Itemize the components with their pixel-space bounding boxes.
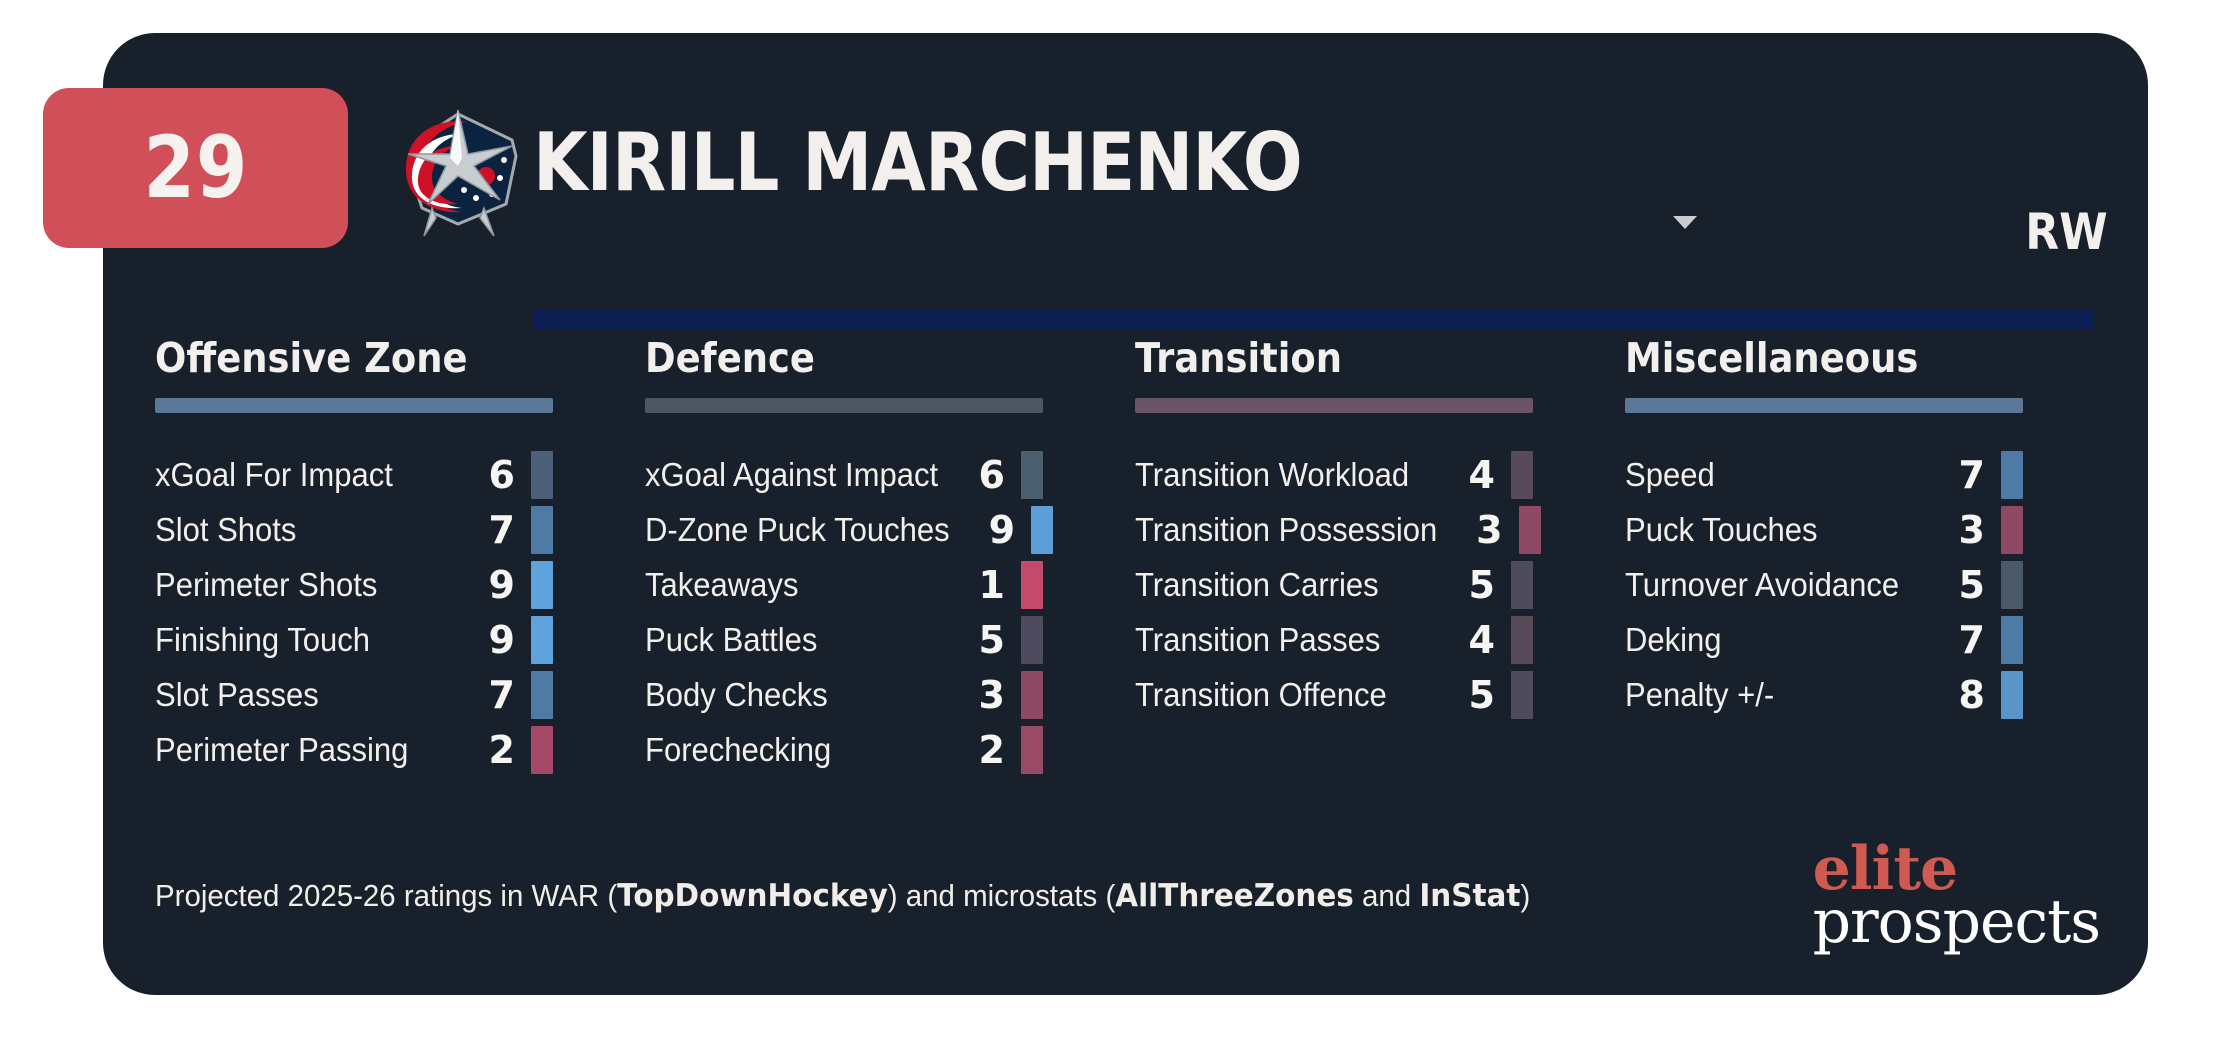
stat-label: Transition Possession xyxy=(1135,513,1437,546)
stat-bar xyxy=(1021,671,1043,719)
stat-label: xGoal Against Impact xyxy=(645,458,940,491)
jersey-number-badge: 29 xyxy=(43,88,348,248)
stat-rows: Transition Workload 4 Transition Possess… xyxy=(1135,447,1598,722)
stat-row: D-Zone Puck Touches 9 xyxy=(645,502,1043,557)
stat-label: Forechecking xyxy=(645,733,940,766)
stat-value: 8 xyxy=(1939,676,1985,714)
stat-row: xGoal For Impact 6 xyxy=(155,447,553,502)
stat-rows: Speed 7 Puck Touches 3 Turnover Avoidanc… xyxy=(1625,447,2088,722)
caption-text: ) and microstats ( xyxy=(888,878,1115,913)
stat-row: Transition Workload 4 xyxy=(1135,447,1533,502)
stat-label: Deking xyxy=(1625,623,1920,656)
stat-row: Transition Offence 5 xyxy=(1135,667,1533,722)
stat-bar xyxy=(1519,506,1541,554)
stat-label: Finishing Touch xyxy=(155,623,450,656)
stat-label: xGoal For Impact xyxy=(155,458,450,491)
stat-bar xyxy=(2001,506,2023,554)
stat-label: Perimeter Passing xyxy=(155,733,450,766)
stat-value: 9 xyxy=(469,621,515,659)
card-header: 29 xyxy=(103,33,2148,303)
stat-value: 1 xyxy=(959,566,1005,604)
stat-value: 3 xyxy=(959,676,1005,714)
stat-row: Perimeter Shots 9 xyxy=(155,557,553,612)
stat-value: 7 xyxy=(1939,456,1985,494)
stat-row: Speed 7 xyxy=(1625,447,2023,502)
column-title: Transition xyxy=(1135,338,1552,379)
stat-row: Turnover Avoidance 5 xyxy=(1625,557,2023,612)
stat-bar xyxy=(2001,451,2023,499)
stat-bar xyxy=(1511,561,1533,609)
stat-label: Transition Carries xyxy=(1135,568,1430,601)
stat-label: Perimeter Shots xyxy=(155,568,450,601)
stat-label: Slot Shots xyxy=(155,513,450,546)
stat-value: 9 xyxy=(969,511,1015,549)
stat-row: Transition Possession 3 xyxy=(1135,502,1533,557)
jersey-number: 29 xyxy=(143,125,248,211)
stat-value: 3 xyxy=(1939,511,1985,549)
stat-column-defence: Defence xGoal Against Impact 6 D-Zone Pu… xyxy=(618,338,1108,777)
stat-rows: xGoal For Impact 6 Slot Shots 7 Perimete… xyxy=(155,447,618,777)
stat-value: 2 xyxy=(469,731,515,769)
column-rule xyxy=(155,398,553,413)
stat-row: Slot Passes 7 xyxy=(155,667,553,722)
stat-rows: xGoal Against Impact 6 D-Zone Puck Touch… xyxy=(645,447,1108,777)
stat-row: Puck Battles 5 xyxy=(645,612,1043,667)
stat-bar xyxy=(2001,561,2023,609)
player-stat-card: 29 xyxy=(103,33,2148,995)
caption-text: and xyxy=(1354,878,1420,913)
stat-row: Finishing Touch 9 xyxy=(155,612,553,667)
stat-row: Transition Passes 4 xyxy=(1135,612,1533,667)
column-rule xyxy=(1135,398,1533,413)
stat-bar xyxy=(2001,671,2023,719)
elite-prospects-logo: elite prospects xyxy=(1813,843,2100,949)
stat-row: Takeaways 1 xyxy=(645,557,1043,612)
stat-bar xyxy=(531,451,553,499)
stat-value: 7 xyxy=(469,676,515,714)
column-rule xyxy=(1625,398,2023,413)
column-title: Defence xyxy=(645,338,1062,379)
stat-row: Deking 7 xyxy=(1625,612,2023,667)
stat-label: Transition Passes xyxy=(1135,623,1430,656)
stat-value: 6 xyxy=(959,456,1005,494)
stat-value: 5 xyxy=(1449,676,1495,714)
stat-label: Puck Touches xyxy=(1625,513,1920,546)
stat-row: Slot Shots 7 xyxy=(155,502,553,557)
stat-row: Penalty +/- 8 xyxy=(1625,667,2023,722)
player-name: KIRILL MARCHENKO xyxy=(533,119,1302,207)
stat-value: 5 xyxy=(1939,566,1985,604)
data-source-caption: Projected 2025-26 ratings in WAR (TopDow… xyxy=(155,878,1530,914)
stat-value: 5 xyxy=(959,621,1005,659)
stat-bar xyxy=(531,561,553,609)
column-rule xyxy=(645,398,1043,413)
stat-label: Transition Offence xyxy=(1135,678,1430,711)
stat-label: Slot Passes xyxy=(155,678,450,711)
source-instat: InStat xyxy=(1419,878,1520,914)
stat-label: Speed xyxy=(1625,458,1920,491)
stat-value: 5 xyxy=(1449,566,1495,604)
stat-label: D-Zone Puck Touches xyxy=(645,513,950,546)
source-topdownhockey: TopDownHockey xyxy=(617,878,888,914)
stat-bar xyxy=(1021,616,1043,664)
stat-row: xGoal Against Impact 6 xyxy=(645,447,1043,502)
logo-prospects-text: prospects xyxy=(1813,896,2100,949)
caption-text: ) xyxy=(1521,878,1531,913)
stat-value: 4 xyxy=(1449,456,1495,494)
stat-bar xyxy=(531,726,553,774)
stat-value: 6 xyxy=(469,456,515,494)
stat-bar xyxy=(2001,616,2023,664)
stat-label: Takeaways xyxy=(645,568,940,601)
team-accent-rule xyxy=(533,310,2093,330)
stat-value: 4 xyxy=(1449,621,1495,659)
column-title: Offensive Zone xyxy=(155,338,572,379)
stat-column-transition: Transition Transition Workload 4 Transit… xyxy=(1108,338,1598,777)
stat-value: 9 xyxy=(469,566,515,604)
stat-value: 3 xyxy=(1457,511,1503,549)
stat-column-miscellaneous: Miscellaneous Speed 7 Puck Touches 3 Tur… xyxy=(1598,338,2088,777)
column-title: Miscellaneous xyxy=(1625,338,2042,379)
caption-text: Projected 2025-26 ratings in WAR ( xyxy=(155,878,617,913)
stat-bar xyxy=(1511,451,1533,499)
stat-bar xyxy=(1031,506,1053,554)
stat-column-offensive-zone: Offensive Zone xGoal For Impact 6 Slot S… xyxy=(128,338,618,777)
stat-value: 7 xyxy=(1939,621,1985,659)
chevron-down-icon[interactable] xyxy=(1673,216,1697,229)
source-allthreezones: AllThreeZones xyxy=(1115,878,1354,914)
stat-row: Body Checks 3 xyxy=(645,667,1043,722)
stat-bar xyxy=(1021,726,1043,774)
player-card-stage: 29 xyxy=(0,0,2236,1050)
stat-bar xyxy=(531,671,553,719)
stat-label: Puck Battles xyxy=(645,623,940,656)
stat-value: 2 xyxy=(959,731,1005,769)
stat-row: Puck Touches 3 xyxy=(1625,502,2023,557)
stat-label: Penalty +/- xyxy=(1625,678,1920,711)
stat-bar xyxy=(531,616,553,664)
stat-value: 7 xyxy=(469,511,515,549)
stat-label: Body Checks xyxy=(645,678,940,711)
columbus-blue-jackets-logo xyxy=(388,96,528,241)
stat-label: Turnover Avoidance xyxy=(1625,568,1920,601)
stat-row: Perimeter Passing 2 xyxy=(155,722,553,777)
stat-bar xyxy=(1511,671,1533,719)
stat-label: Transition Workload xyxy=(1135,458,1430,491)
stat-row: Forechecking 2 xyxy=(645,722,1043,777)
stat-bar xyxy=(1021,451,1043,499)
stat-bar xyxy=(531,506,553,554)
stat-bar xyxy=(1511,616,1533,664)
player-position: RW xyxy=(2026,203,2108,261)
stat-row: Transition Carries 5 xyxy=(1135,557,1533,612)
stat-bar xyxy=(1021,561,1043,609)
stat-columns: Offensive Zone xGoal For Impact 6 Slot S… xyxy=(103,338,2148,777)
